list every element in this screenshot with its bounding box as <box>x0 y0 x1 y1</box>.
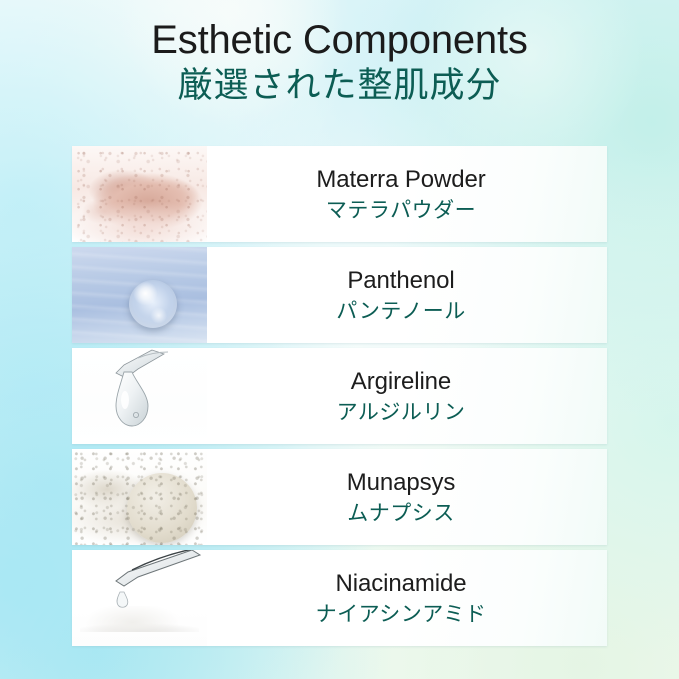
ingredient-name-english: Munapsys <box>347 469 456 497</box>
serum-drop-pipette-photo <box>72 348 207 444</box>
water-droplet-on-water-photo <box>72 247 207 343</box>
pink-powder-art <box>72 146 207 242</box>
ingredient-name-japanese: パンテノール <box>336 298 465 324</box>
page-title-japanese: 厳選された整肌成分 <box>0 65 679 107</box>
ingredient-name-japanese: ナイアシンアミド <box>316 601 487 627</box>
ingredient-labels: Materra Powder マテラパウダー <box>207 146 607 242</box>
white-powder-with-scoop-photo <box>72 449 207 545</box>
ingredient-labels: Niacinamide ナイアシンアミド <box>207 550 607 646</box>
serum-drop-icon <box>72 348 207 444</box>
ingredient-row: Argireline アルジルリン <box>72 348 607 444</box>
ingredient-row: Niacinamide ナイアシンアミド <box>72 550 607 646</box>
ingredient-name-english: Argireline <box>351 368 451 396</box>
ingredient-row: Materra Powder マテラパウダー <box>72 146 607 242</box>
page-header: Esthetic Components 厳選された整肌成分 <box>0 0 679 107</box>
white-powder-art <box>72 449 207 545</box>
pink-powder-heap-photo <box>72 146 207 242</box>
ingredient-labels: Munapsys ムナプシス <box>207 449 607 545</box>
water-droplet-art <box>72 247 207 343</box>
ingredient-name-japanese: マテラパウダー <box>326 197 476 223</box>
ingredient-name-japanese: ムナプシス <box>347 500 455 526</box>
dropper-over-white-powder-photo <box>72 550 207 646</box>
ingredient-labels: Panthenol パンテノール <box>207 247 607 343</box>
ingredient-labels: Argireline アルジルリン <box>207 348 607 444</box>
ingredient-row: Panthenol パンテノール <box>72 247 607 343</box>
ingredient-list: Materra Powder マテラパウダー Panthenol パンテノール <box>72 146 607 651</box>
ingredient-row: Munapsys ムナプシス <box>72 449 607 545</box>
page-title-english: Esthetic Components <box>0 17 679 63</box>
ingredient-name-english: Niacinamide <box>336 570 467 598</box>
ingredient-name-english: Materra Powder <box>316 166 485 194</box>
dropper-icon <box>72 550 207 646</box>
ingredient-name-japanese: アルジルリン <box>337 399 466 425</box>
ingredient-name-english: Panthenol <box>347 267 454 295</box>
